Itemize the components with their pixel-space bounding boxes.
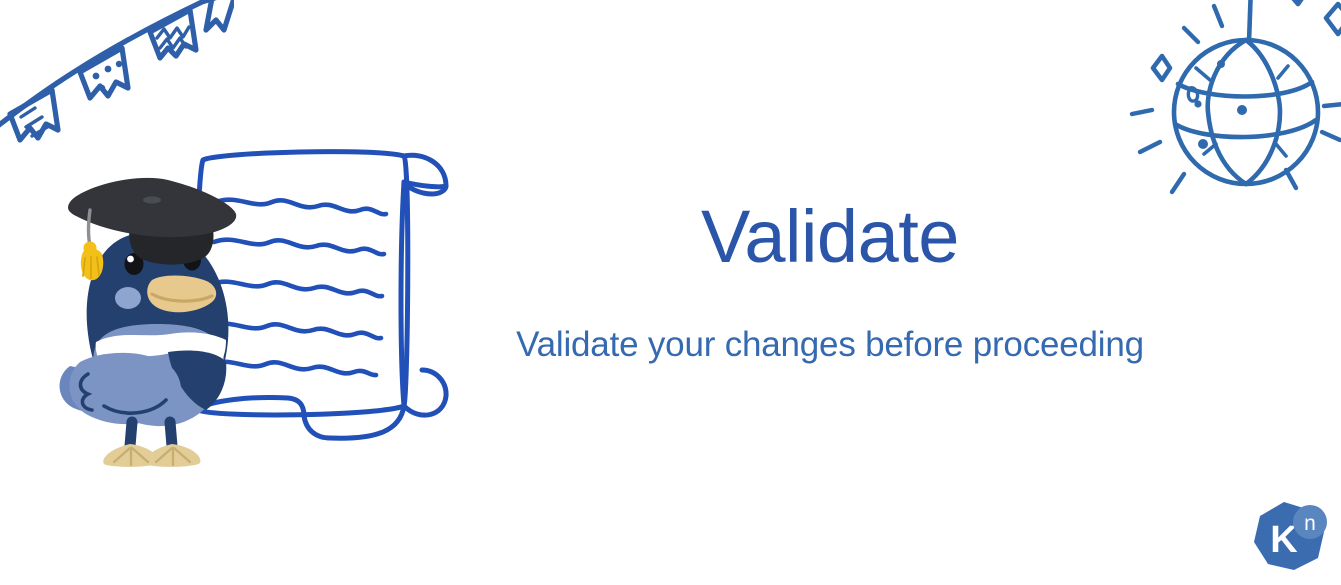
logo-letter-n: n [1304, 512, 1316, 535]
scroll-document-decoration [196, 152, 446, 439]
hero-text-block: Validate Validate your changes before pr… [468, 200, 1192, 365]
bird-figure [60, 178, 237, 467]
graduation-cap-icon [68, 178, 236, 280]
kn-logo: K n [1248, 500, 1330, 574]
page-subtitle: Validate your changes before proceeding [468, 274, 1192, 365]
disco-ball-decoration [1118, 0, 1341, 224]
page-canvas: Validate Validate your changes before pr… [0, 0, 1341, 585]
graduate-bird-mascot [48, 138, 468, 468]
page-title: Validate [468, 200, 1192, 274]
bunting-flags-decoration [0, 0, 234, 196]
